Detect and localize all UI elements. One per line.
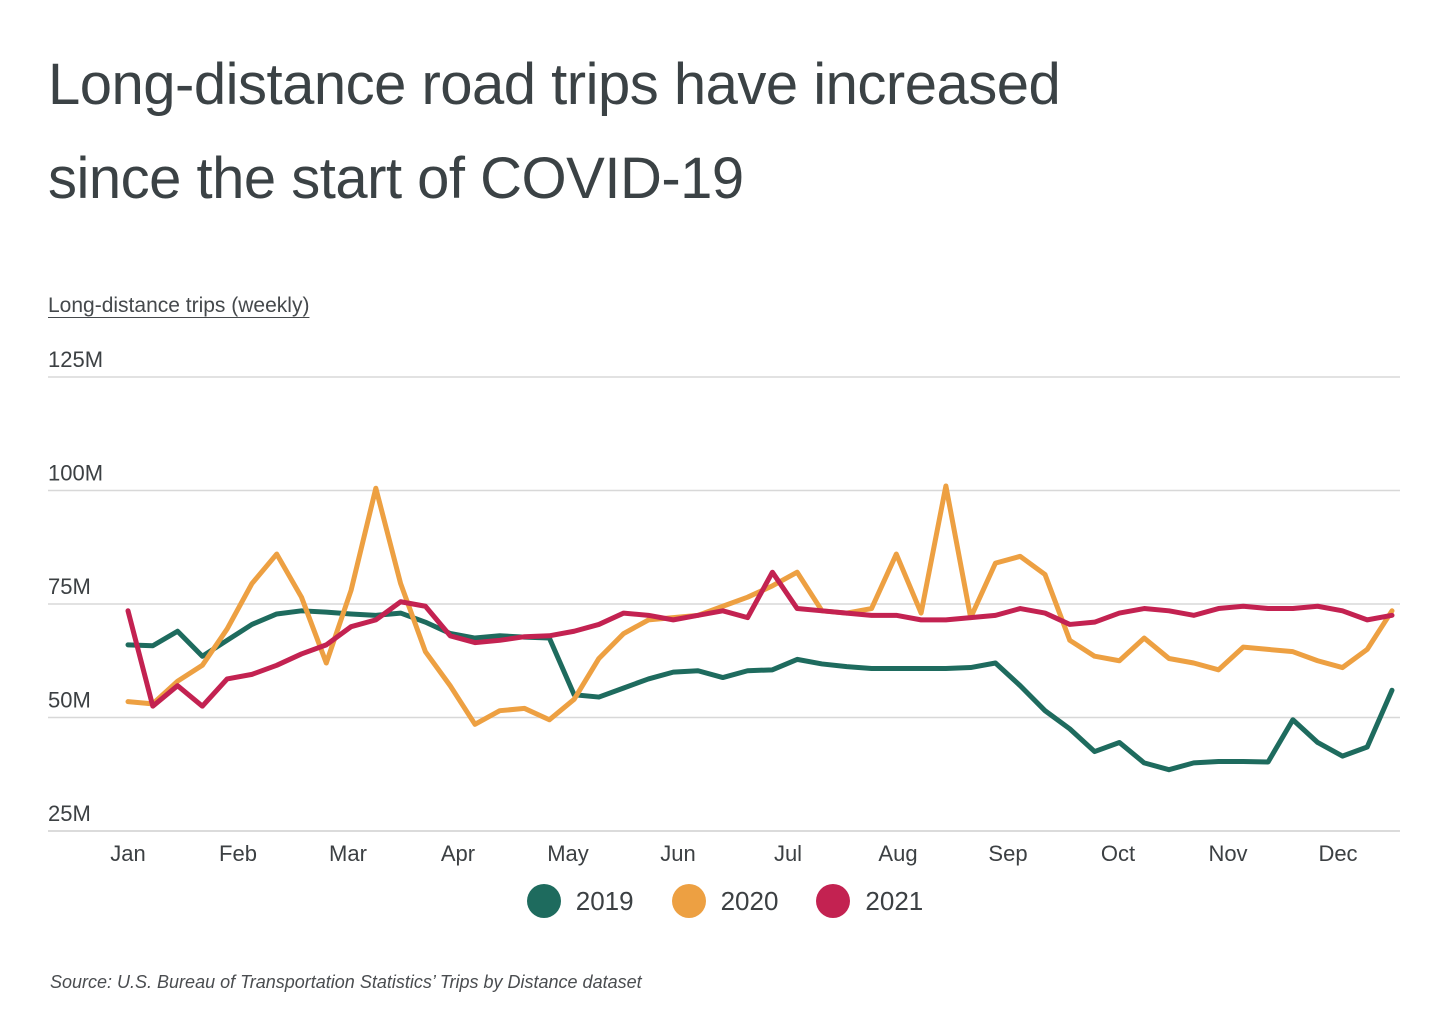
legend-label: 2019	[576, 886, 634, 917]
x-axis-tick-label: Mar	[329, 841, 367, 866]
y-axis-tick-label: 125M	[48, 347, 103, 372]
chart-page: Long-distance road trips have increased …	[0, 0, 1450, 1012]
legend-item-2020[interactable]: 2020	[672, 884, 779, 918]
x-axis-tick-label: Jun	[660, 841, 695, 866]
legend-swatch-icon	[672, 884, 706, 918]
legend-item-2021[interactable]: 2021	[816, 884, 923, 918]
data-series-group	[128, 486, 1392, 770]
x-axis-tick-label: Oct	[1101, 841, 1135, 866]
x-axis-tick-label: Aug	[878, 841, 917, 866]
x-axis-tick-label: Nov	[1208, 841, 1247, 866]
y-axis-tick-labels: 25M50M75M100M125M	[48, 347, 103, 826]
legend-swatch-icon	[527, 884, 561, 918]
x-axis-tick-label: May	[547, 841, 589, 866]
y-axis-tick-label: 25M	[48, 801, 91, 826]
x-axis-tick-label: Apr	[441, 841, 475, 866]
y-axis-tick-label: 50M	[48, 688, 91, 713]
chart-plot-area: 25M50M75M100M125M JanFebMarAprMayJunJulA…	[0, 0, 1450, 1012]
x-axis-tick-label: Feb	[219, 841, 257, 866]
line-chart-svg: 25M50M75M100M125M JanFebMarAprMayJunJulA…	[0, 0, 1450, 1012]
legend-item-2019[interactable]: 2019	[527, 884, 634, 918]
source-note: Source: U.S. Bureau of Transportation St…	[50, 972, 642, 993]
x-axis-tick-label: Sep	[988, 841, 1027, 866]
x-axis-tick-label: Jul	[774, 841, 802, 866]
y-axis-tick-label: 100M	[48, 461, 103, 486]
legend-label: 2021	[865, 886, 923, 917]
legend-swatch-icon	[816, 884, 850, 918]
y-axis-tick-label: 75M	[48, 574, 91, 599]
legend-label: 2020	[721, 886, 779, 917]
chart-legend: 201920202021	[0, 884, 1450, 918]
x-axis-tick-label: Dec	[1318, 841, 1357, 866]
series-line-2020	[128, 486, 1392, 724]
x-axis-tick-label: Jan	[110, 841, 145, 866]
x-axis-tick-labels: JanFebMarAprMayJunJulAugSepOctNovDec	[110, 841, 1357, 866]
